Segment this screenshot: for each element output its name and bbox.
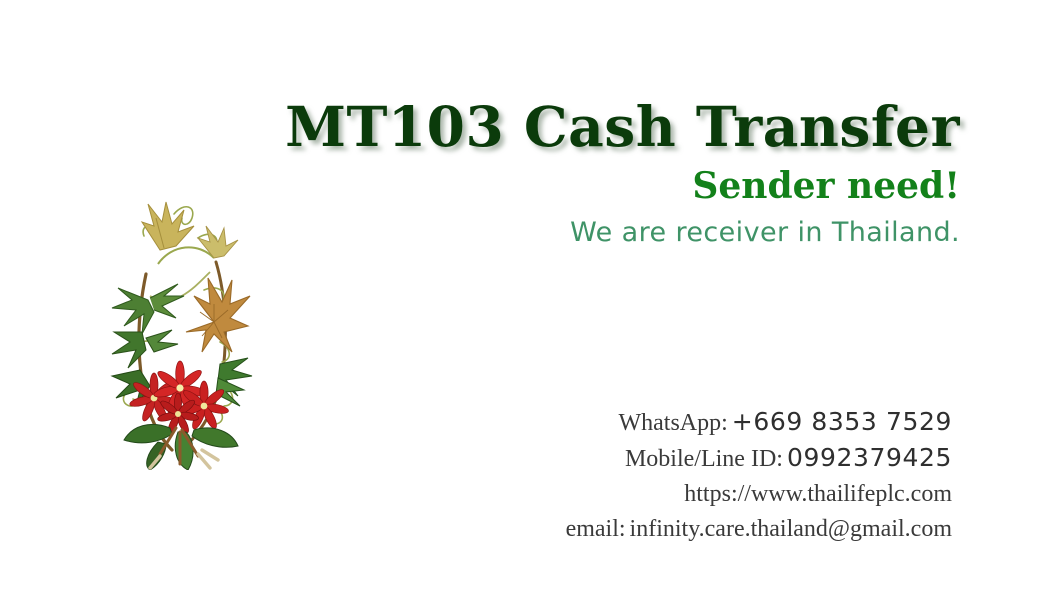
- contact-block: WhatsApp: +669 8353 7529 Mobile/Line ID:…: [400, 406, 952, 548]
- contact-line-email: email: infinity.care.thailand@gmail.com: [400, 513, 952, 548]
- whatsapp-number[interactable]: +669 8353 7529: [732, 407, 952, 436]
- contact-line-mobile: Mobile/Line ID: 0992379425: [400, 442, 952, 478]
- headline-block: MT103 Cash Transfer Sender need! We are …: [280, 96, 960, 250]
- flyer-canvas: MT103 Cash Transfer Sender need! We are …: [0, 0, 1063, 600]
- page-tagline: We are receiver in Thailand.: [280, 216, 960, 250]
- mobile-line-id-number[interactable]: 0992379425: [787, 443, 952, 472]
- email-address[interactable]: infinity.care.thailand@gmail.com: [630, 516, 952, 542]
- website-link[interactable]: https://www.thailifeplc.com: [684, 481, 952, 507]
- page-title: MT103 Cash Transfer: [280, 96, 960, 158]
- floral-vine-wreath-illustration: [98, 192, 258, 470]
- contact-line-whatsapp: WhatsApp: +669 8353 7529: [400, 406, 952, 442]
- whatsapp-label: WhatsApp:: [618, 410, 727, 436]
- email-label: email:: [566, 516, 626, 542]
- contact-line-website: https://www.thailifeplc.com: [400, 478, 952, 513]
- page-subtitle: Sender need!: [280, 164, 960, 208]
- mobile-line-id-label: Mobile/Line ID:: [625, 446, 783, 472]
